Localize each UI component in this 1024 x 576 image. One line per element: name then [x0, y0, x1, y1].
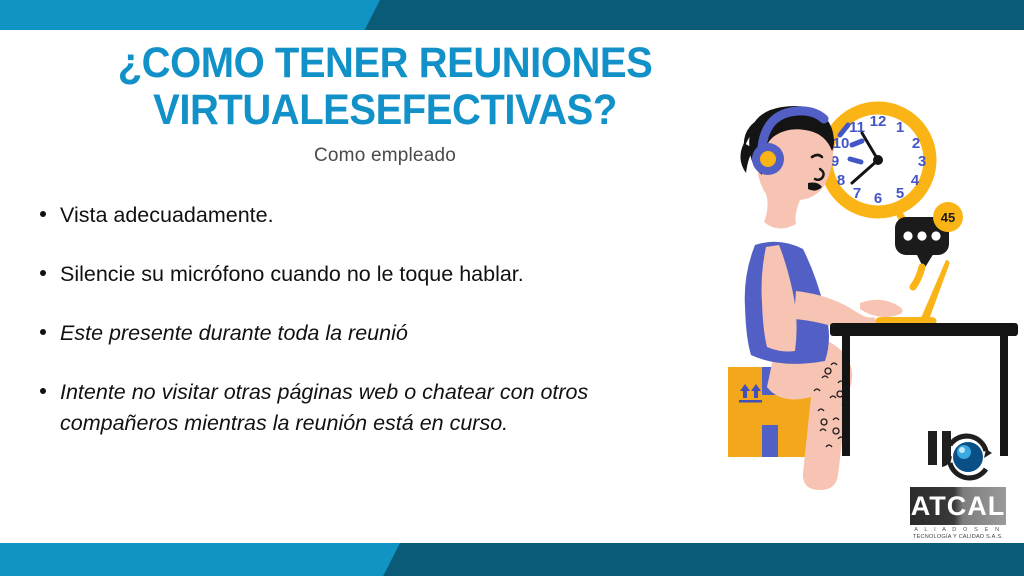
bullet-list: Vista adecuadamente. Silencie su micrófo… — [30, 200, 710, 467]
svg-text:10: 10 — [833, 135, 850, 152]
chat-bubble-notification-icon: 45 — [895, 202, 963, 287]
atcal-wordmark: ATCAL — [910, 487, 1006, 525]
atcal-wordmark-text: ATCAL — [911, 491, 1005, 522]
logo-tagline-top: A L I A D O S E N — [906, 527, 1010, 533]
svg-text:8: 8 — [837, 172, 845, 189]
list-item-text: Vista adecuadamente. — [60, 200, 274, 231]
atcal-logo: ATCAL A L I A D O S E N TECNOLOGÍA Y CAL… — [906, 429, 1010, 540]
title-block: ¿COMO TENER REUNIONES VIRTUALESEFECTIVAS… — [0, 40, 770, 167]
bullet-dot-icon — [40, 329, 46, 335]
svg-text:12: 12 — [870, 113, 887, 130]
svg-text:5: 5 — [896, 185, 904, 202]
list-item: Este presente durante toda la reunió — [30, 318, 710, 349]
svg-text:6: 6 — [874, 190, 882, 207]
chat-badge-count: 45 — [941, 210, 955, 225]
bullet-dot-icon — [40, 270, 46, 276]
logo-bar-left — [928, 431, 937, 465]
svg-text:3: 3 — [918, 153, 926, 170]
list-item: Vista adecuadamente. — [30, 200, 710, 231]
list-item: Silencie su micrófono cuando no le toque… — [30, 259, 710, 290]
page-subtitle: Como empleado — [0, 145, 770, 167]
list-item-text: Intente no visitar otras páginas web o c… — [60, 377, 710, 439]
list-item-text: Este presente durante toda la reunió — [60, 318, 408, 349]
svg-text:4: 4 — [911, 172, 920, 189]
list-item-text: Silencie su micrófono cuando no le toque… — [60, 259, 524, 290]
bottom-banner — [0, 535, 1024, 576]
top-banner-dark-parallelogram — [365, 0, 1024, 30]
svg-text:1: 1 — [896, 119, 904, 136]
wall-clock-icon: 12 1 2 3 4 5 6 7 8 9 10 11 — [826, 108, 930, 212]
svg-text:7: 7 — [853, 185, 861, 202]
desk-and-laptop — [830, 260, 1018, 456]
atcal-logo-mark — [906, 429, 1010, 485]
bullet-dot-icon — [40, 388, 46, 394]
svg-text:2: 2 — [912, 135, 920, 152]
list-item: Intente no visitar otras páginas web o c… — [30, 377, 710, 439]
page-title: ¿COMO TENER REUNIONES VIRTUALESEFECTIVAS… — [27, 40, 743, 134]
bullet-dot-icon — [40, 211, 46, 217]
top-banner — [0, 0, 1024, 30]
bottom-banner-dark-parallelogram — [383, 543, 1024, 576]
